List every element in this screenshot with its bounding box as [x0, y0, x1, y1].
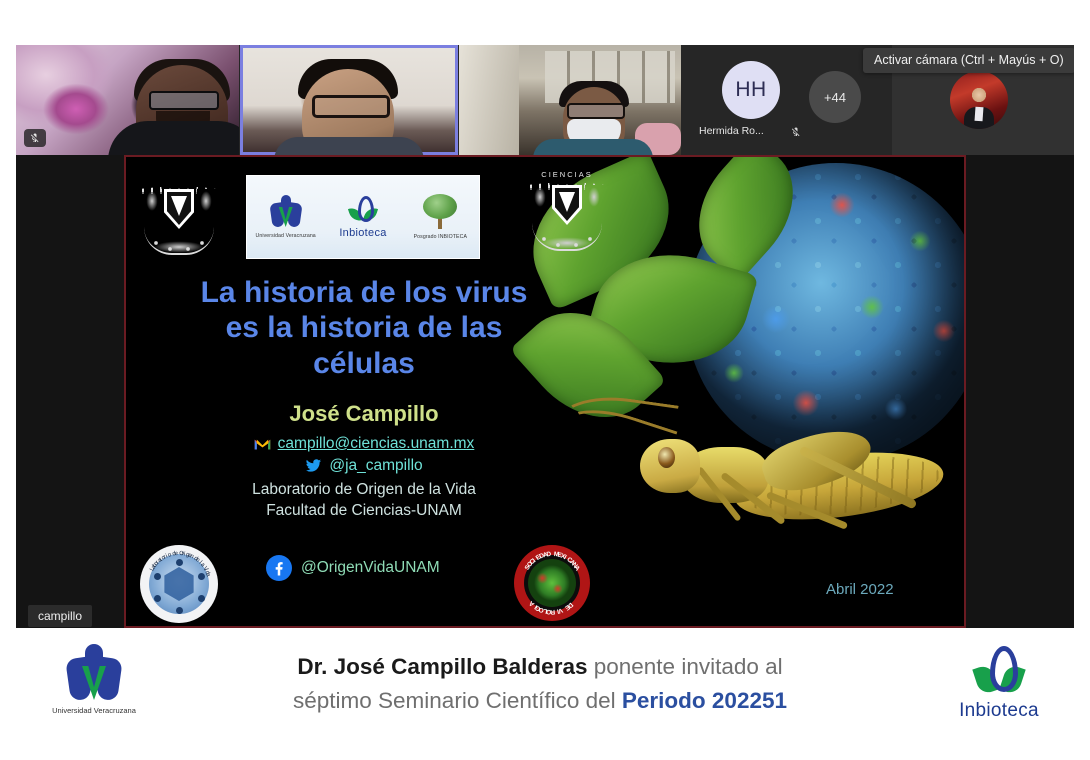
seal-ring-text: Laboratorio de Origen de la Vida — [140, 545, 218, 623]
logo-universidad-veracruzana: Universidad Veracruzana — [247, 195, 324, 239]
meeting-window: HH Hermida Ro... +44 Activar cámara (Ctr… — [16, 45, 1074, 628]
gmail-icon — [254, 438, 271, 451]
screenshot-root: HH Hermida Ro... +44 Activar cámara (Ctr… — [0, 0, 1090, 760]
video-feed — [16, 45, 239, 155]
video-feed — [240, 45, 458, 155]
unam-shield-icon — [140, 171, 218, 257]
decor-curtain — [459, 45, 519, 155]
footer-caption-line2: séptimo Seminario Científico del — [293, 688, 622, 713]
decor-flame — [358, 196, 374, 222]
video-feed — [459, 45, 681, 155]
twitter-handle[interactable]: @ja_campillo — [329, 457, 422, 475]
presenter-name-pill: campillo — [28, 605, 92, 627]
logo-caption: Universidad Veracruzana — [256, 233, 316, 239]
video-tile-participant-1[interactable] — [16, 45, 239, 155]
facebook-handle[interactable]: @OrigenVidaUNAM — [301, 559, 440, 577]
affiliation-line-1: Laboratorio de Origen de la Vida — [144, 481, 584, 499]
footer-caption: Dr. José Campillo Balderas ponente invit… — [190, 650, 890, 718]
inbioteca-icon — [350, 196, 376, 224]
participant-overflow-count[interactable]: +44 — [809, 71, 861, 123]
footer-logo-caption: Universidad Veracruzana — [36, 706, 152, 715]
facebook-icon — [266, 555, 292, 581]
decor-glasses — [149, 91, 219, 110]
footer-logo-universidad-veracruzana: Universidad Veracruzana — [36, 644, 152, 715]
video-tile-participant-3[interactable] — [459, 45, 681, 155]
logo-inbioteca: Inbioteca — [325, 196, 402, 239]
slide-title-line-2: es la historia de las — [144, 310, 584, 345]
email-link[interactable]: campillo@ciencias.unam.mx — [278, 435, 475, 453]
affiliation-line-2: Facultad de Ciencias-UNAM — [144, 502, 584, 520]
avatar-name-label: Hermida Ro... — [699, 125, 803, 137]
twitter-row: @ja_campillo — [144, 457, 584, 475]
camera-tooltip: Activar cámara (Ctrl + Mayús + O) — [863, 48, 1074, 73]
shield-caption: CIENCIAS — [528, 167, 606, 183]
participant-overflow-area: HH Hermida Ro... +44 Activar cámara (Ctr… — [681, 45, 1074, 155]
twitter-icon — [305, 459, 322, 473]
footer-caption-period: Periodo 202251 — [622, 688, 787, 713]
email-row: campillo@ciencias.unam.mx — [144, 435, 584, 453]
slide-title-line-1: La historia de los virus — [144, 275, 584, 310]
laboratorio-origen-vida-seal-icon: Laboratorio de Origen de la Vida — [140, 545, 218, 623]
sociedad-mexicana-virologia-seal-icon: SOCIEDAD MEXICANA DE VIROLOGIA — [514, 545, 590, 621]
grasshopper-image — [566, 407, 966, 607]
decor-torso — [108, 121, 239, 155]
decor-glasses — [312, 95, 390, 118]
slide-title: La historia de los virus es la historia … — [144, 275, 584, 381]
footer-caption-mid: ponente invitado al — [587, 654, 782, 679]
footer-logo-inbioteca: Inbioteca — [934, 646, 1064, 722]
facultad-ciencias-shield-icon: CIENCIAS — [528, 167, 606, 253]
inbioteca-icon — [976, 646, 1022, 696]
logo-posgrado-inbioteca: Posgrado INBIOTECA — [402, 194, 479, 240]
slide-title-line-3: células — [144, 346, 584, 381]
sponsor-logo-bar: Universidad Veracruzana Inbioteca P — [246, 175, 480, 259]
logo-caption: Posgrado INBIOTECA — [414, 234, 467, 240]
footer-bar: Universidad Veracruzana Dr. José Campill… — [0, 628, 1090, 760]
slide-author: José Campillo — [144, 401, 584, 427]
decor-glasses — [567, 103, 625, 119]
video-tile-participant-2-active-speaker[interactable] — [240, 45, 458, 155]
video-tile-strip: HH Hermida Ro... +44 Activar cámara (Ctr… — [16, 45, 1074, 155]
avatar-initials[interactable]: HH — [722, 61, 780, 119]
facebook-row: @OrigenVidaUNAM — [266, 555, 440, 581]
footer-caption-name: Dr. José Campillo Balderas — [297, 654, 587, 679]
universidad-veracruzana-icon — [68, 644, 120, 702]
mic-muted-icon — [24, 129, 46, 147]
decor-torso — [274, 137, 424, 155]
self-avatar — [950, 71, 1008, 129]
inbioteca-wordmark: Inbioteca — [934, 700, 1064, 722]
inbioteca-wordmark: Inbioteca — [339, 227, 386, 239]
seal-ring-text-bottom: DE VIROLOGIA — [514, 545, 590, 621]
decor-crown — [423, 194, 457, 219]
decor-flame — [990, 646, 1018, 692]
shared-slide[interactable]: CIENCIAS Universidad Veracruzana — [124, 155, 966, 628]
decor-torso — [533, 139, 653, 155]
mic-muted-icon — [790, 125, 802, 137]
universidad-veracruzana-icon — [271, 195, 301, 229]
tree-icon — [423, 194, 457, 230]
slide-date: Abril 2022 — [826, 581, 894, 598]
decor-collar — [975, 107, 984, 122]
